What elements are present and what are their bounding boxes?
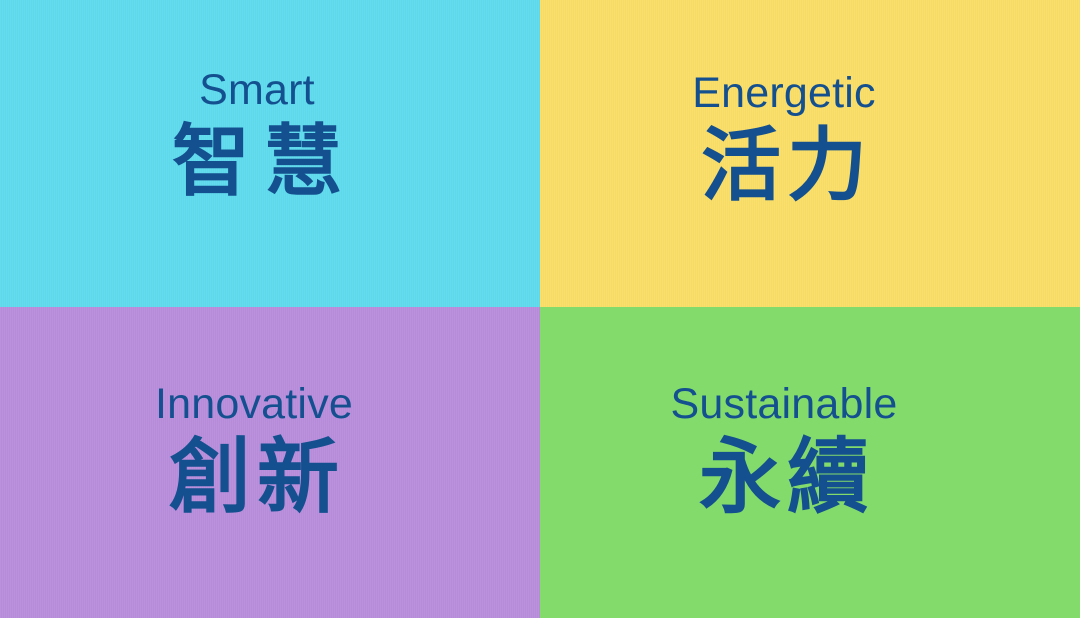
- quadrant-energetic: Energetic 活力: [540, 0, 1080, 307]
- label-en-innovative: Innovative: [155, 383, 353, 426]
- label-group-energetic: Energetic 活力: [692, 72, 875, 206]
- label-group-innovative: Innovative 創新: [155, 383, 353, 519]
- label-group-sustainable: Sustainable 永續: [671, 383, 898, 519]
- label-zh-sustainable: 永續: [693, 437, 875, 519]
- label-group-smart: Smart 智慧: [158, 69, 356, 201]
- quadrant-smart: Smart 智慧: [0, 0, 540, 307]
- quadrant-sustainable: Sustainable 永續: [540, 307, 1080, 618]
- label-zh-smart: 智慧: [158, 123, 356, 201]
- label-en-smart: Smart: [199, 69, 315, 112]
- label-en-energetic: Energetic: [692, 72, 875, 115]
- label-en-sustainable: Sustainable: [671, 383, 898, 426]
- brand-values-poster: Smart 智慧 Energetic 活力 Innovative 創新 Sust…: [0, 0, 1080, 618]
- label-zh-energetic: 活力: [695, 126, 873, 206]
- label-zh-innovative: 創新: [163, 437, 345, 519]
- quadrant-innovative: Innovative 創新: [0, 307, 540, 618]
